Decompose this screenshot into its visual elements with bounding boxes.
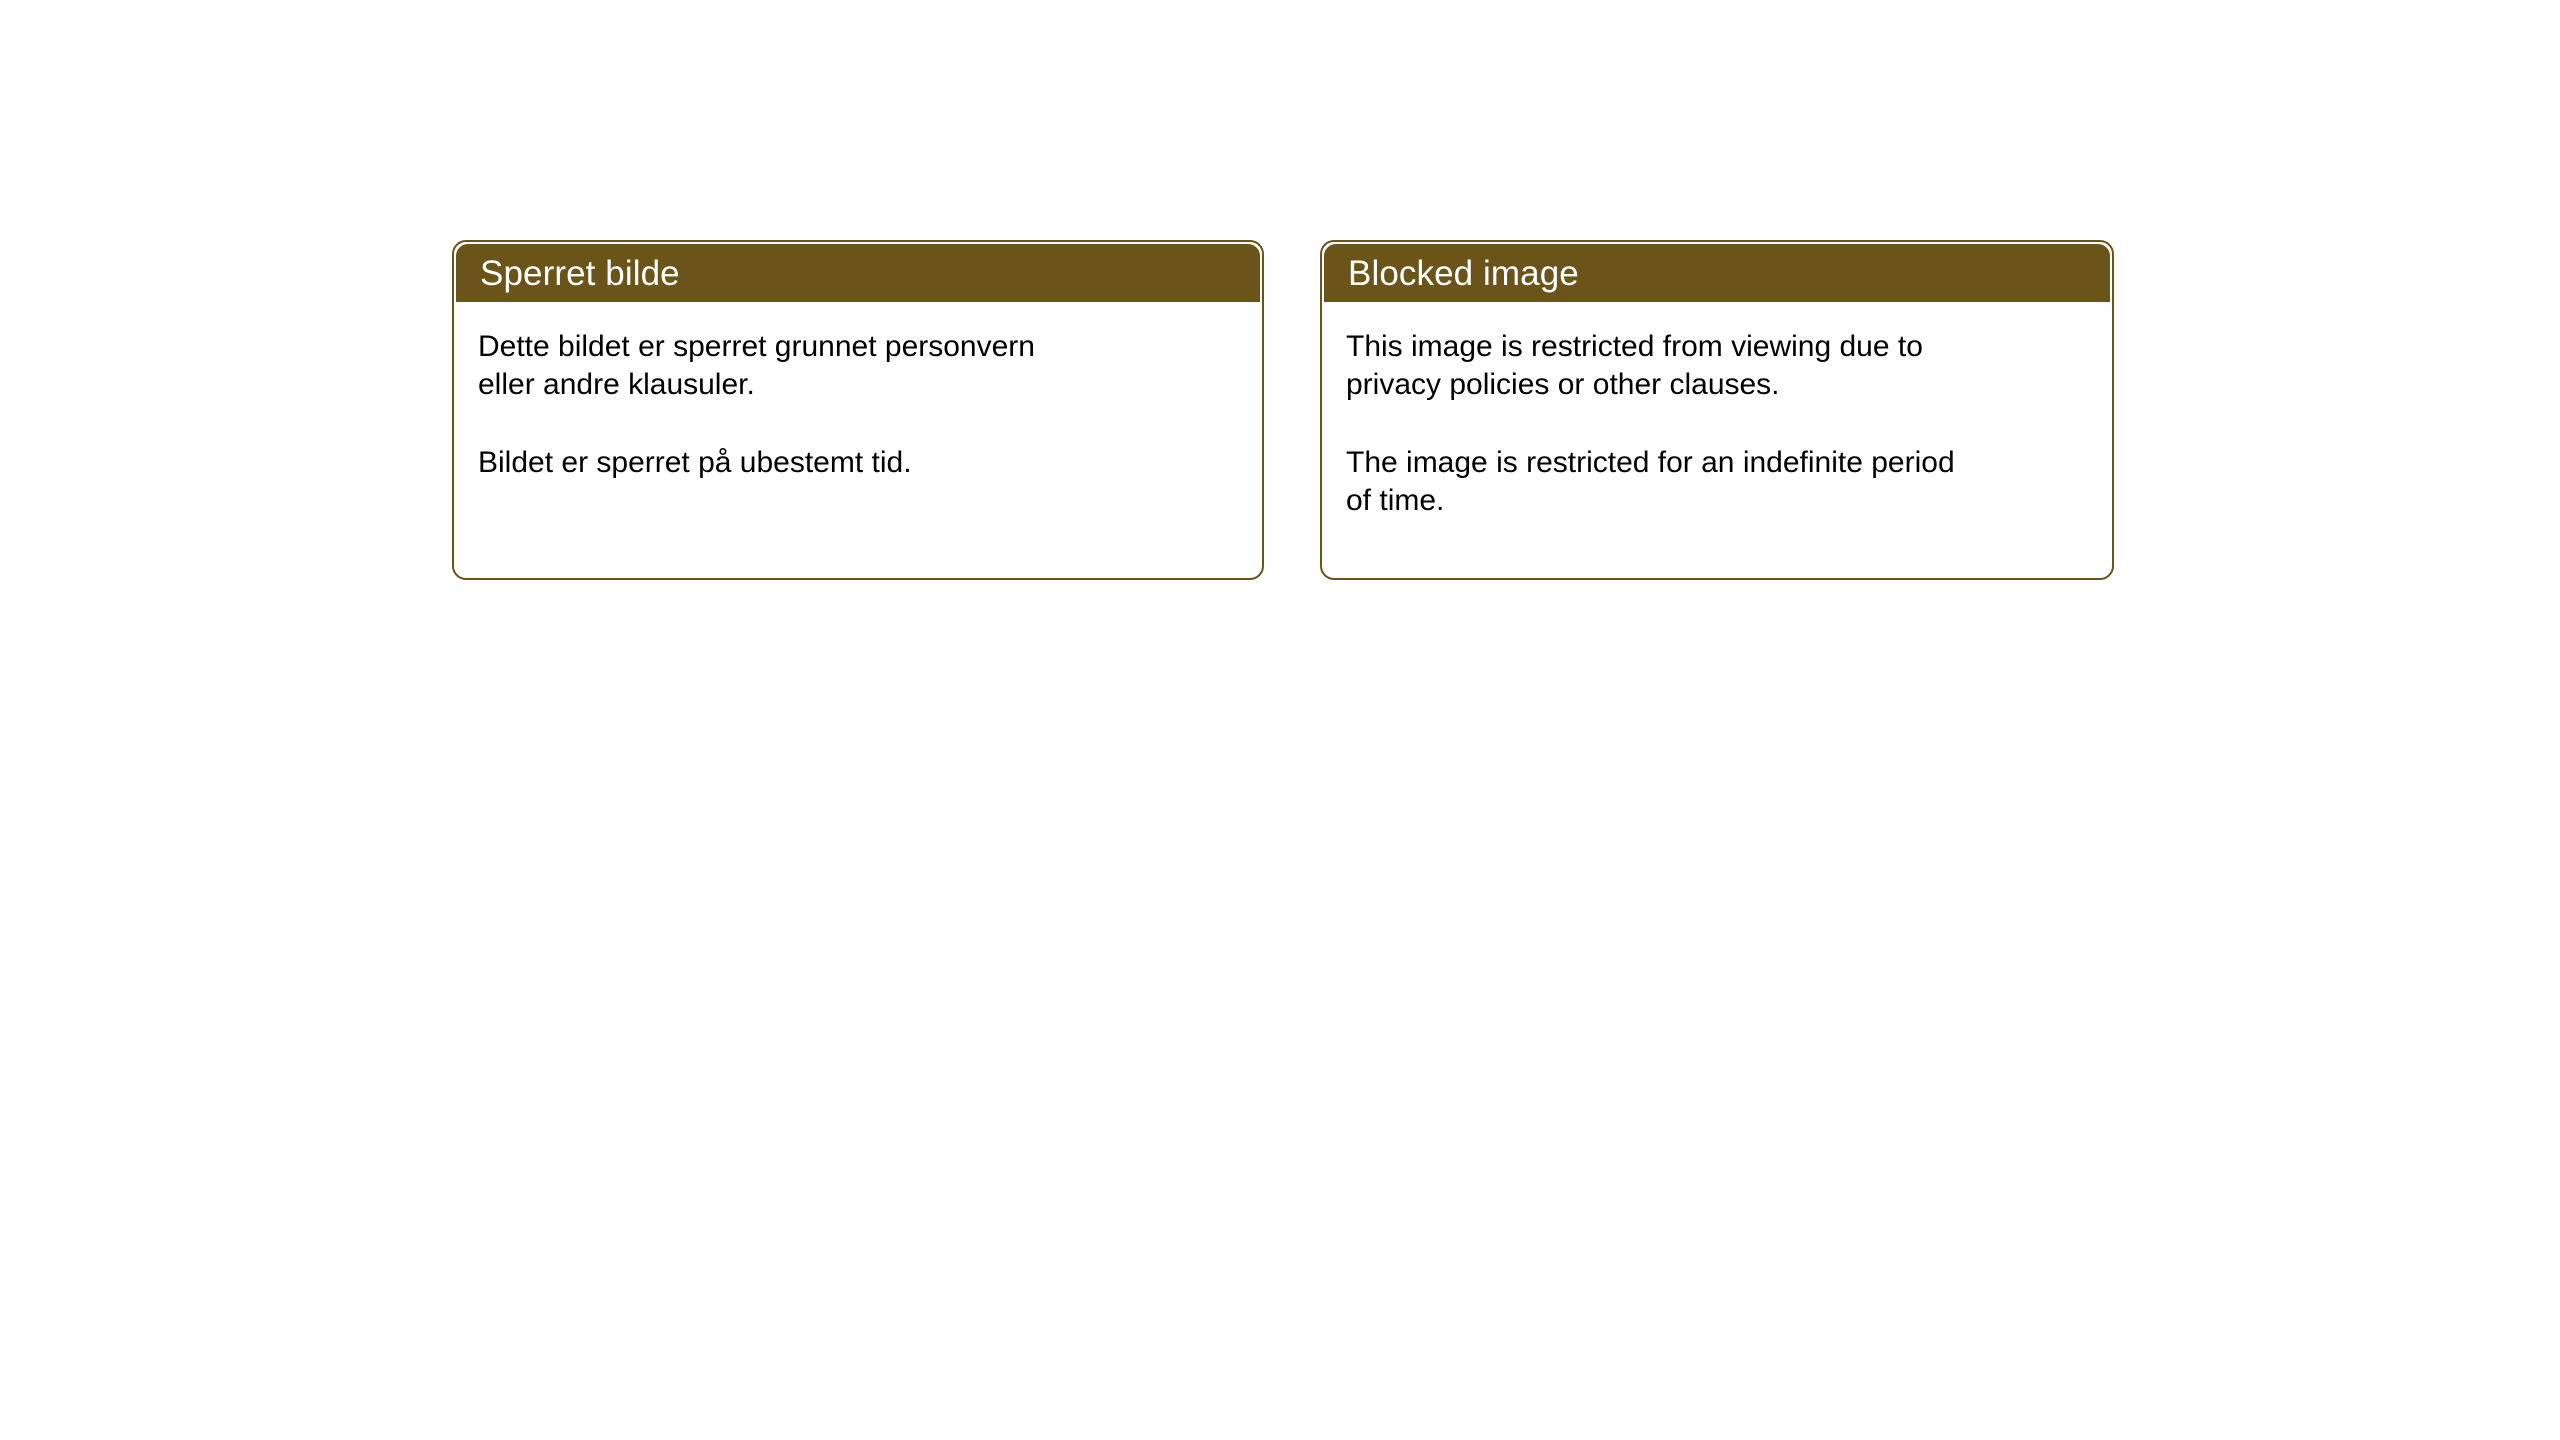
notice-paragraph-duration-norwegian: Bildet er sperret på ubestemt tid. xyxy=(478,444,1238,482)
panel-body-norwegian: Dette bildet er sperret grunnet personve… xyxy=(454,302,1262,578)
notice-paragraph-reason-norwegian: Dette bildet er sperret grunnet personve… xyxy=(478,328,1238,404)
page-root: Sperret bilde Dette bildet er sperret gr… xyxy=(0,0,2560,1440)
panel-title-english: Blocked image xyxy=(1324,256,1579,291)
panel-header-norwegian: Sperret bilde xyxy=(456,244,1260,302)
notice-paragraph-duration-english: The image is restricted for an indefinit… xyxy=(1346,444,2088,520)
panel-header-english: Blocked image xyxy=(1324,244,2110,302)
panel-title-norwegian: Sperret bilde xyxy=(456,256,680,291)
notice-paragraph-reason-english: This image is restricted from viewing du… xyxy=(1346,328,2088,404)
blocked-image-notice-norwegian: Sperret bilde Dette bildet er sperret gr… xyxy=(452,240,1264,580)
panel-body-english: This image is restricted from viewing du… xyxy=(1322,302,2112,578)
blocked-image-notice-english: Blocked image This image is restricted f… xyxy=(1320,240,2114,580)
